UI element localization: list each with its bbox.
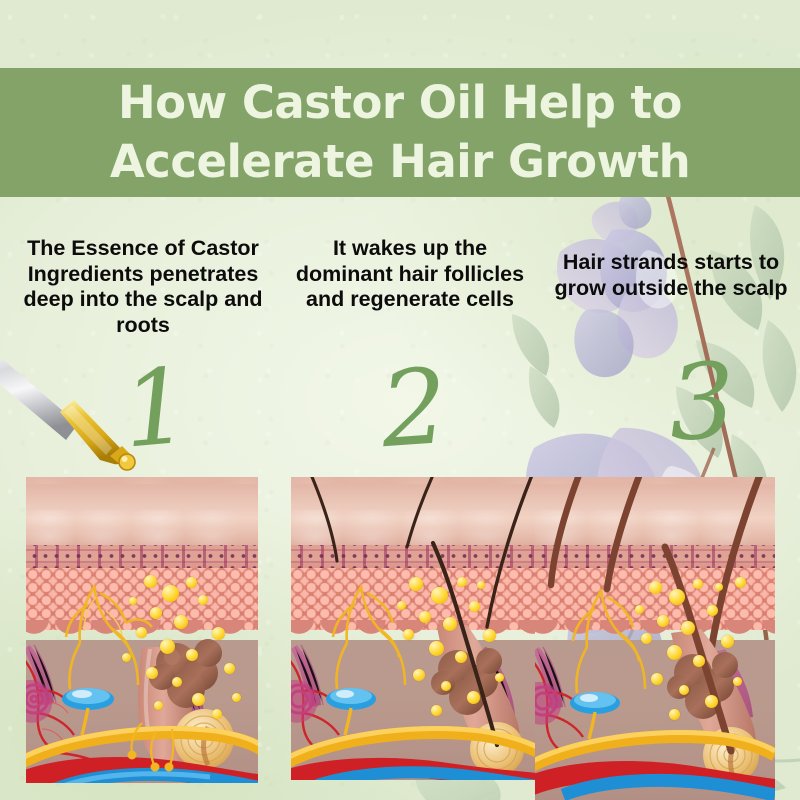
oil-particle — [705, 695, 718, 708]
new-hair-strands — [291, 477, 535, 627]
oil-particle — [721, 635, 734, 648]
oil-particle — [397, 601, 406, 610]
oil-particle — [707, 605, 718, 616]
oil-particle — [186, 649, 198, 661]
oil-particle — [455, 651, 467, 663]
oil-particle — [186, 577, 197, 588]
oil-particle — [635, 605, 644, 614]
oil-particle — [693, 655, 705, 667]
oil-particle — [172, 677, 182, 687]
step-1-caption: The Essence of Castor Ingredients penetr… — [8, 236, 278, 338]
oil-particle — [477, 581, 485, 589]
oil-particle — [162, 585, 179, 602]
oil-particle — [715, 583, 723, 591]
page-title-line-2: Accelerate Hair Growth — [0, 132, 800, 191]
oil-particle — [649, 581, 662, 594]
oil-particle — [212, 709, 222, 719]
step-3-caption: Hair strands starts to grow outside the … — [546, 250, 796, 301]
oil-particle — [146, 667, 158, 679]
oil-particle — [495, 673, 504, 682]
oil-particle — [129, 597, 137, 605]
step-2-skin-diagram — [291, 477, 535, 780]
oil-particle — [174, 615, 188, 629]
step-3-anatomy — [535, 477, 775, 800]
oil-particle — [669, 709, 680, 720]
page-title-line-1: How Castor Oil Help to — [0, 73, 800, 132]
oil-particle — [667, 645, 682, 660]
oil-particle — [733, 677, 742, 686]
oil-particle — [469, 601, 480, 612]
oil-particle — [212, 627, 225, 640]
header-band: How Castor Oil Help to Accelerate Hair G… — [0, 68, 800, 197]
oil-particle — [429, 641, 444, 656]
oil-particle — [419, 611, 431, 623]
oil-particle — [669, 589, 685, 605]
oil-particle — [144, 575, 157, 588]
oil-particle — [467, 691, 480, 704]
oil-particle — [150, 607, 162, 619]
oil-particle — [735, 577, 746, 588]
oil-particle — [693, 579, 703, 589]
oil-particle — [651, 673, 663, 685]
page-title: How Castor Oil Help to Accelerate Hair G… — [0, 73, 800, 191]
oil-particle — [431, 705, 442, 716]
oil-particle — [641, 633, 652, 644]
oil-particle — [679, 685, 689, 695]
oil-particle — [457, 577, 467, 587]
oil-particle — [657, 615, 669, 627]
oil-particle — [441, 681, 451, 691]
step-2-number: 2 — [377, 354, 450, 462]
oil-particle — [136, 627, 147, 638]
step-1-skin-diagram — [26, 477, 258, 783]
oil-particle — [431, 587, 448, 604]
oil-particle — [403, 629, 414, 640]
oil-particle — [443, 617, 457, 631]
oil-dropper-pipette — [0, 360, 162, 492]
oil-particle — [224, 663, 235, 674]
infographic-canvas: How Castor Oil Help to Accelerate Hair G… — [0, 0, 800, 800]
step-2-caption: It wakes up the dominant hair follicles … — [286, 236, 534, 313]
nerve-network — [573, 589, 645, 693]
oil-particle — [409, 577, 423, 591]
oil-particle — [160, 639, 175, 654]
oil-particle — [232, 693, 241, 702]
step-3-skin-diagram — [535, 477, 775, 800]
oil-particle — [198, 595, 208, 605]
nerve-network — [333, 585, 405, 689]
oil-particle — [122, 653, 131, 662]
oil-particle — [681, 621, 695, 635]
oil-particle — [154, 701, 163, 710]
oil-particle — [413, 669, 425, 681]
oil-particle — [483, 629, 496, 642]
oil-particle — [192, 693, 205, 706]
step-2-anatomy — [291, 477, 535, 780]
step-3-number: 3 — [666, 348, 738, 455]
